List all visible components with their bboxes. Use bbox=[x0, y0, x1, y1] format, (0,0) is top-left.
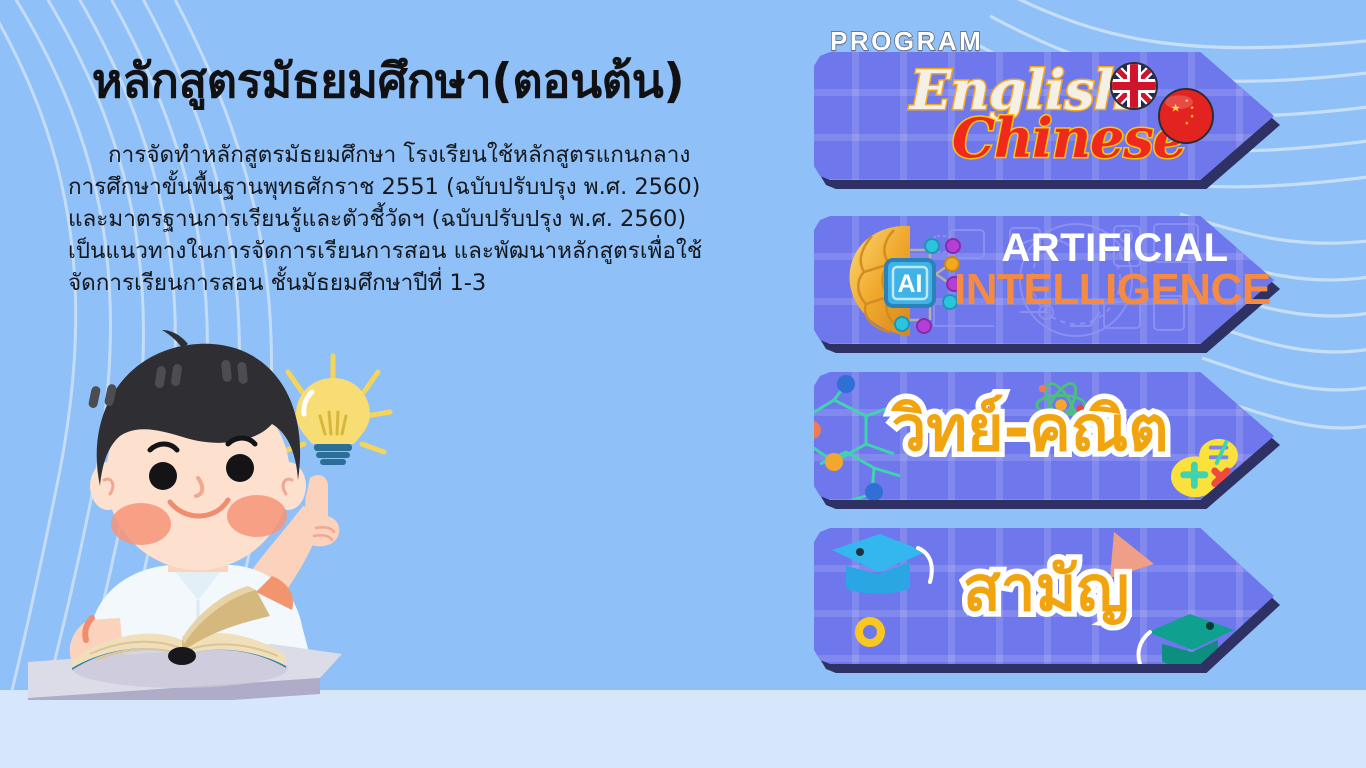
banner-content: English Chinese bbox=[814, 52, 1274, 180]
body-paragraph: การจัดทำหลักสูตรมัธยมศึกษา โรงเรียนใช้หล… bbox=[68, 140, 774, 300]
banner-label-intelligence: INTELLIGENCE bbox=[954, 268, 1266, 312]
banner-label-artificial: ARTIFICIAL bbox=[970, 228, 1260, 268]
body-line: เป็นแนวทางในการจัดการเรียนการสอน และพัฒน… bbox=[68, 236, 774, 268]
banner-label-general: สามัญ bbox=[844, 558, 1248, 620]
body-line: การจัดทำหลักสูตรมัธยมศึกษา โรงเรียนใช้หล… bbox=[68, 140, 774, 172]
banner-content: AI ARTIFICIAL INTELLIGENCE bbox=[814, 216, 1274, 344]
program-banner-artificial-intelligence[interactable]: AI ARTIFICIAL INTELLIGENCE bbox=[814, 216, 1274, 344]
lightbulb-icon bbox=[296, 378, 370, 465]
uk-flag-icon bbox=[1110, 62, 1158, 110]
program-column: PROGRAM English Chinese bbox=[806, 0, 1366, 768]
body-line: การศึกษาขั้นพื้นฐานพุทธศักราช 2551 (ฉบับ… bbox=[68, 172, 774, 204]
banner-label-chinese: Chinese bbox=[952, 106, 1186, 170]
body-line: และมาตรฐานการเรียนรู้และตัวชี้วัดฯ (ฉบับ… bbox=[68, 204, 774, 236]
slide-canvas: หลักสูตรมัธยมศึกษา(ตอนต้น) การจัดทำหลักส… bbox=[0, 0, 1366, 768]
program-banner-general[interactable]: สามัญ bbox=[814, 528, 1274, 664]
page-title: หลักสูตรมัธยมศึกษา(ตอนต้น) bbox=[0, 56, 776, 109]
china-flag-icon bbox=[1158, 88, 1214, 144]
left-content-column: หลักสูตรมัธยมศึกษา(ตอนต้น) การจัดทำหลักส… bbox=[0, 0, 800, 768]
banner-content: สามัญ bbox=[814, 528, 1274, 664]
banner-content: วิทย์-คณิต bbox=[814, 372, 1274, 500]
banner-label-science-math: วิทย์-คณิต bbox=[828, 398, 1232, 460]
program-banner-english-chinese[interactable]: English Chinese bbox=[814, 52, 1274, 180]
program-banner-science-math[interactable]: วิทย์-คณิต bbox=[814, 372, 1274, 500]
body-line: จัดการเรียนการสอน ชั้นมัธยมศึกษาปีที่ 1-… bbox=[68, 268, 774, 300]
svg-text:AI: AI bbox=[898, 270, 923, 298]
boy-reading-illustration bbox=[20, 300, 450, 700]
